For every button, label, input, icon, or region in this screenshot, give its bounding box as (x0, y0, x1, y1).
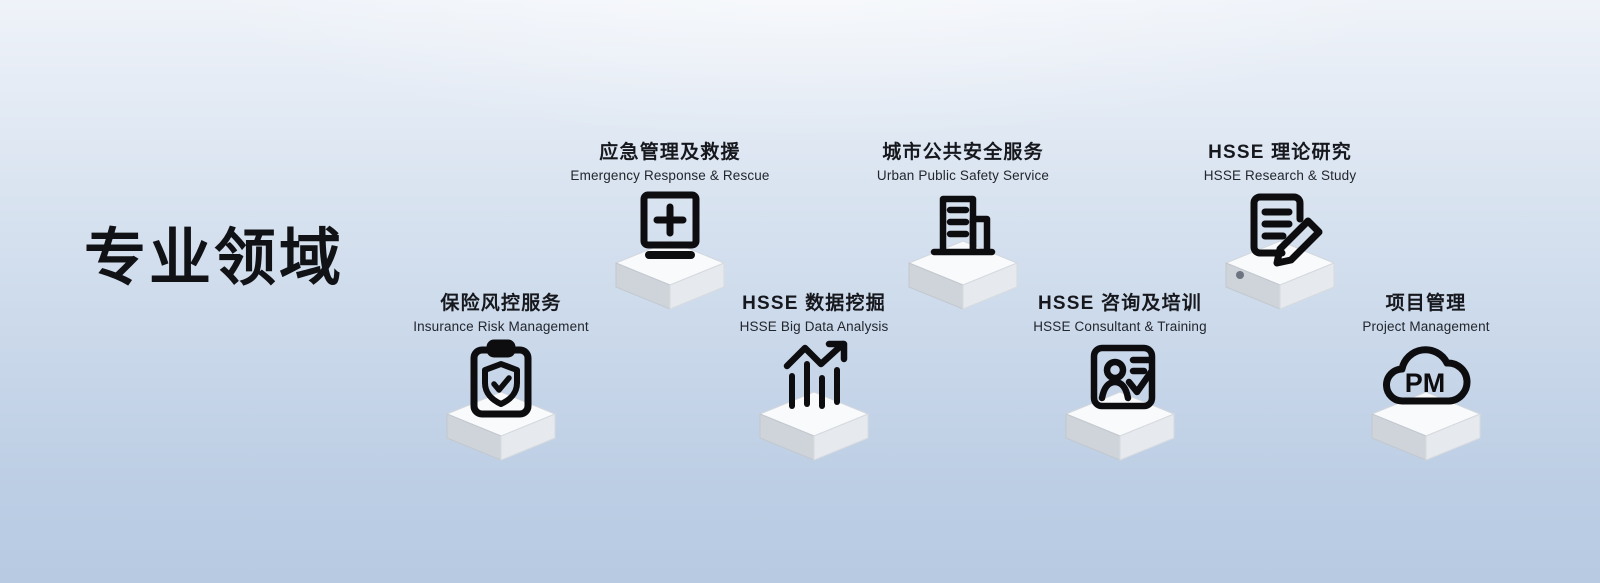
field-label-cn: HSSE 数据挖掘 (684, 294, 944, 315)
field-card-project-management[interactable]: 项目管理 Project Management PM (1296, 294, 1556, 464)
field-artwork: PM (1296, 344, 1556, 464)
field-label-en: HSSE Consultant & Training (990, 319, 1250, 334)
professional-fields-banner: 专业领域 应急管理及救援 Emergency Response & Rescue (0, 0, 1600, 583)
field-label-cn: 保险风控服务 (371, 294, 631, 315)
field-label-cn: HSSE 理论研究 (1150, 143, 1410, 164)
box-accent-dot (1236, 271, 1244, 279)
field-artwork (371, 344, 631, 464)
cloud-pm-icon: PM (1351, 344, 1501, 464)
field-card-hsse-consultant-training[interactable]: HSSE 咨询及培训 HSSE Consultant & Training (990, 294, 1250, 464)
field-card-urban-public-safety-service[interactable]: 城市公共安全服务 Urban Public Safety Service (833, 143, 1093, 313)
field-label-en: HSSE Research & Study (1150, 168, 1410, 183)
bar-chart-trend-icon (739, 344, 889, 464)
field-card-hsse-big-data-analysis[interactable]: HSSE 数据挖掘 HSSE Big Data Analysis (684, 294, 944, 464)
field-label-en: HSSE Big Data Analysis (684, 319, 944, 334)
field-label-cn: 项目管理 (1296, 294, 1556, 315)
field-label-cn: 应急管理及救援 (540, 143, 800, 164)
field-label-cn: HSSE 咨询及培训 (990, 294, 1250, 315)
field-label-en: Project Management (1296, 319, 1556, 334)
field-label-en: Emergency Response & Rescue (540, 168, 800, 183)
field-card-insurance-risk-management[interactable]: 保险风控服务 Insurance Risk Management (371, 294, 631, 464)
field-artwork (684, 344, 944, 464)
field-artwork (990, 344, 1250, 464)
page-title: 专业领域 (84, 228, 344, 290)
person-id-check-icon (1045, 344, 1195, 464)
field-card-hsse-research-study[interactable]: HSSE 理论研究 HSSE Research & Study (1150, 143, 1410, 313)
field-label-en: Insurance Risk Management (371, 319, 631, 334)
clipboard-shield-check-icon (426, 344, 576, 464)
cloud-pm-label: PM (1405, 368, 1446, 398)
field-card-emergency-response-rescue[interactable]: 应急管理及救援 Emergency Response & Rescue (540, 143, 800, 313)
field-label-en: Urban Public Safety Service (833, 168, 1093, 183)
field-label-cn: 城市公共安全服务 (833, 143, 1093, 164)
